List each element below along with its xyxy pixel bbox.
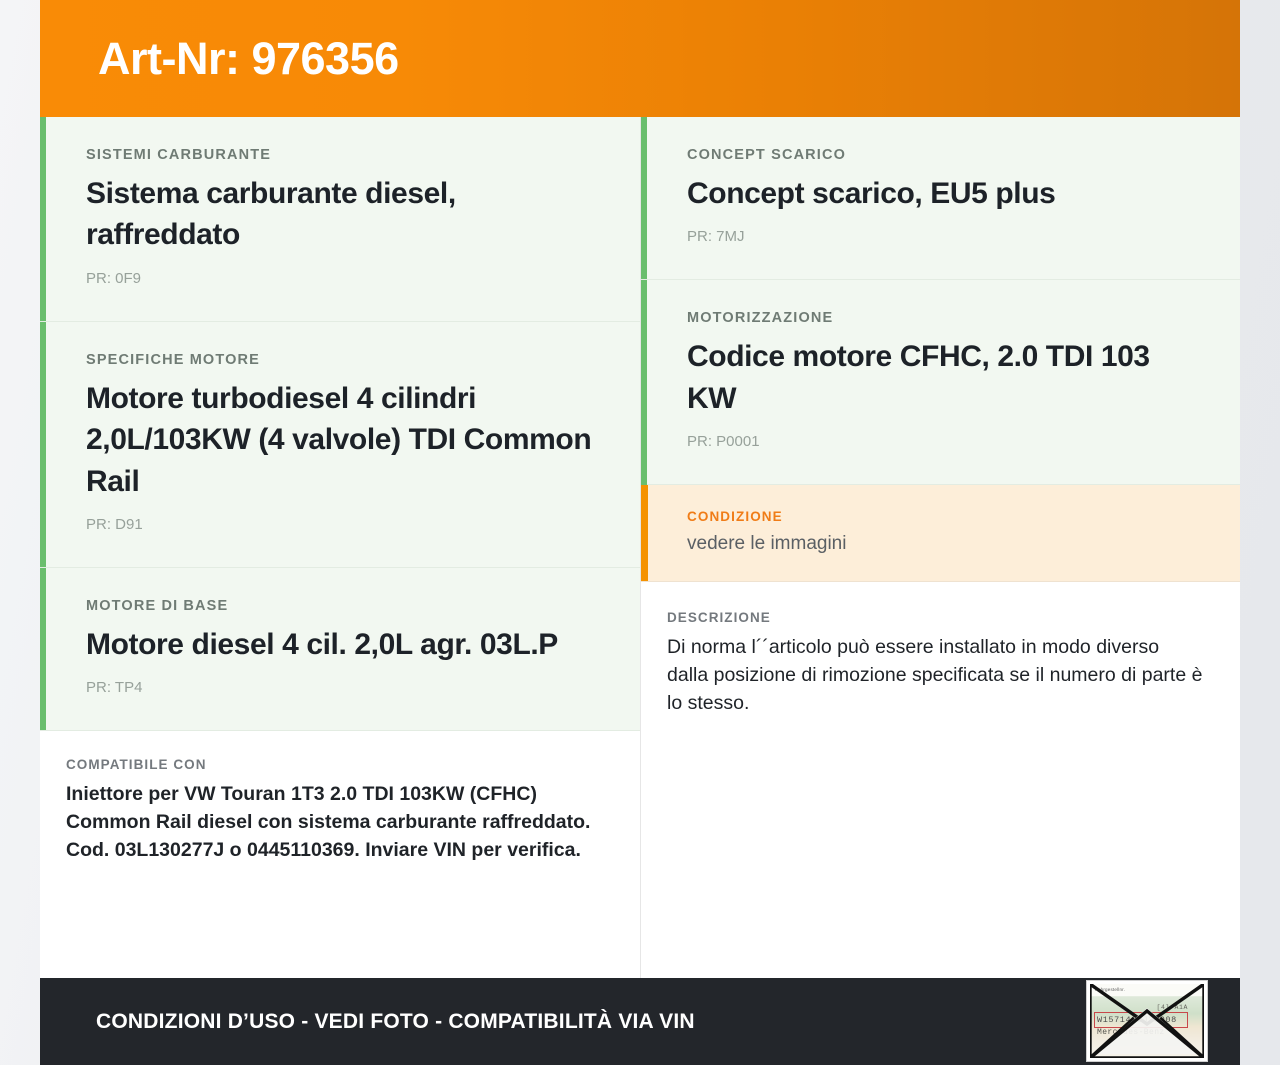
description-label: DESCRIZIONE bbox=[667, 610, 1204, 625]
spec-card-specifiche-motore[interactable]: SPECIFICHE MOTORE Motore turbodiesel 4 c… bbox=[40, 322, 640, 568]
spec-card-label: SPECIFICHE MOTORE bbox=[86, 352, 602, 368]
spec-card-label: MOTORE DI BASE bbox=[86, 598, 602, 614]
envelope-icon[interactable]: Fahrgestellnr. [4] A1A W1571463J31908 Me… bbox=[1086, 980, 1208, 1062]
page-footer: CONDIZIONI D’USO - VEDI FOTO - COMPATIBI… bbox=[40, 978, 1240, 1065]
page-header: Art-Nr: 976356 bbox=[40, 0, 1240, 117]
spec-card-title: Motore diesel 4 cil. 2,0L agr. 03L.P bbox=[86, 624, 602, 665]
spec-card-pr: PR: P0001 bbox=[687, 433, 1202, 450]
compatible-text: Iniettore per VW Touran 1T3 2.0 TDI 103K… bbox=[66, 781, 610, 864]
spec-card-pr: PR: 0F9 bbox=[86, 270, 602, 287]
description-text: Di norma l´´articolo può essere installa… bbox=[667, 634, 1204, 717]
condition-label: CONDIZIONE bbox=[687, 509, 1202, 524]
condition-section[interactable]: CONDIZIONE vedere le immagini bbox=[641, 485, 1240, 582]
page-title: Art-Nr: 976356 bbox=[98, 36, 399, 81]
footer-text: CONDIZIONI D’USO - VEDI FOTO - COMPATIBI… bbox=[96, 1010, 695, 1034]
spec-card-pr: PR: 7MJ bbox=[687, 228, 1202, 245]
spec-card-motorizzazione[interactable]: MOTORIZZAZIONE Codice motore CFHC, 2.0 T… bbox=[641, 280, 1240, 485]
right-column: CONCEPT SCARICO Concept scarico, EU5 plu… bbox=[640, 117, 1240, 978]
compatible-section: COMPATIBILE CON Iniettore per VW Touran … bbox=[40, 731, 640, 874]
spec-card-pr: PR: TP4 bbox=[86, 679, 602, 696]
content-body: SISTEMI CARBURANTE Sistema carburante di… bbox=[40, 117, 1240, 978]
left-column: SISTEMI CARBURANTE Sistema carburante di… bbox=[40, 117, 640, 978]
compatible-label: COMPATIBILE CON bbox=[66, 757, 610, 772]
spec-card-concept-scarico[interactable]: CONCEPT SCARICO Concept scarico, EU5 plu… bbox=[641, 117, 1240, 280]
spec-card-title: Motore turbodiesel 4 cilindri 2,0L/103KW… bbox=[86, 378, 602, 502]
condition-value: vedere le immagini bbox=[687, 533, 1202, 555]
spec-card-title: Codice motore CFHC, 2.0 TDI 103 KW bbox=[687, 336, 1202, 419]
spec-card-title: Concept scarico, EU5 plus bbox=[687, 173, 1202, 214]
spec-card-motore-di-base[interactable]: MOTORE DI BASE Motore diesel 4 cil. 2,0L… bbox=[40, 568, 640, 731]
product-sheet: Art-Nr: 976356 SISTEMI CARBURANTE Sistem… bbox=[40, 0, 1240, 1065]
envelope-outline-icon bbox=[1090, 984, 1204, 1058]
description-section: DESCRIZIONE Di norma l´´articolo può ess… bbox=[641, 582, 1240, 727]
spec-card-pr: PR: D91 bbox=[86, 516, 602, 533]
registration-document-thumbnail: Fahrgestellnr. [4] A1A W1571463J31908 Me… bbox=[1090, 984, 1204, 1058]
spec-card-label: SISTEMI CARBURANTE bbox=[86, 147, 602, 163]
spec-card-title: Sistema carburante diesel, raffreddato bbox=[86, 173, 602, 256]
spec-card-label: MOTORIZZAZIONE bbox=[687, 310, 1202, 326]
spec-card-sistemi-carburante[interactable]: SISTEMI CARBURANTE Sistema carburante di… bbox=[40, 117, 640, 322]
spec-card-label: CONCEPT SCARICO bbox=[687, 147, 1202, 163]
